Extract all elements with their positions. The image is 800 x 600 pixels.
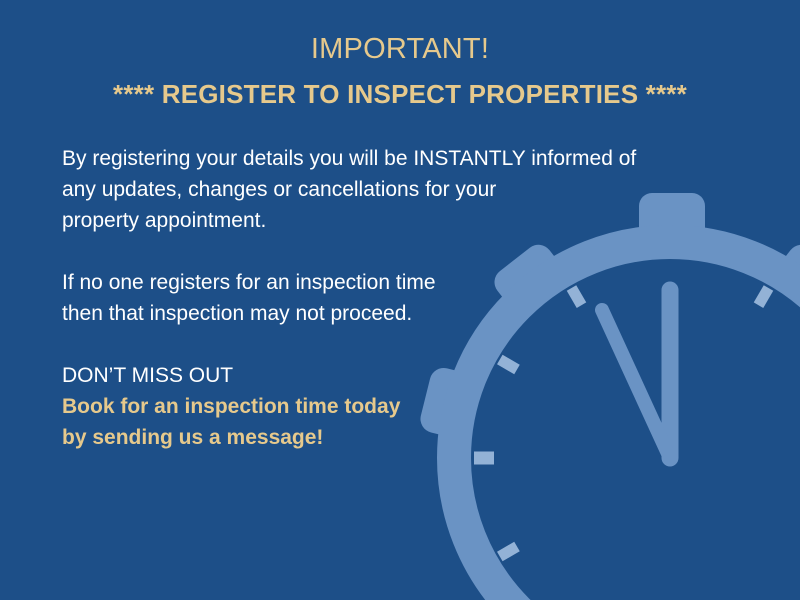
paragraph-1-line-1: By registering your details you will be … [62,143,712,174]
body-block: By registering your details you will be … [62,143,712,453]
cta-line-dont-miss-out: DON’T MISS OUT [62,360,712,391]
slide-content: IMPORTANT! **** REGISTER TO INSPECT PROP… [0,0,800,600]
paragraph-no-registration: If no one registers for an inspection ti… [62,267,712,329]
slide-canvas: IMPORTANT! **** REGISTER TO INSPECT PROP… [0,0,800,600]
paragraph-spacer-1 [62,236,712,267]
paragraph-2-line-2: then that inspection may not proceed. [62,298,712,329]
cta-line-send-message: by sending us a message! [62,422,712,453]
paragraph-1-line-3: property appointment. [62,205,712,236]
headline-block: IMPORTANT! **** REGISTER TO INSPECT PROP… [0,30,800,113]
page-title: IMPORTANT! [0,30,800,68]
paragraph-2-line-1: If no one registers for an inspection ti… [62,267,712,298]
paragraph-spacer-2 [62,329,712,360]
paragraph-1-line-2: any updates, changes or cancellations fo… [62,174,712,205]
paragraph-registering: By registering your details you will be … [62,143,712,236]
cta-line-book-today: Book for an inspection time today [62,391,712,422]
call-to-action-block: DON’T MISS OUT Book for an inspection ti… [62,360,712,453]
page-subtitle: **** REGISTER TO INSPECT PROPERTIES **** [0,75,800,113]
